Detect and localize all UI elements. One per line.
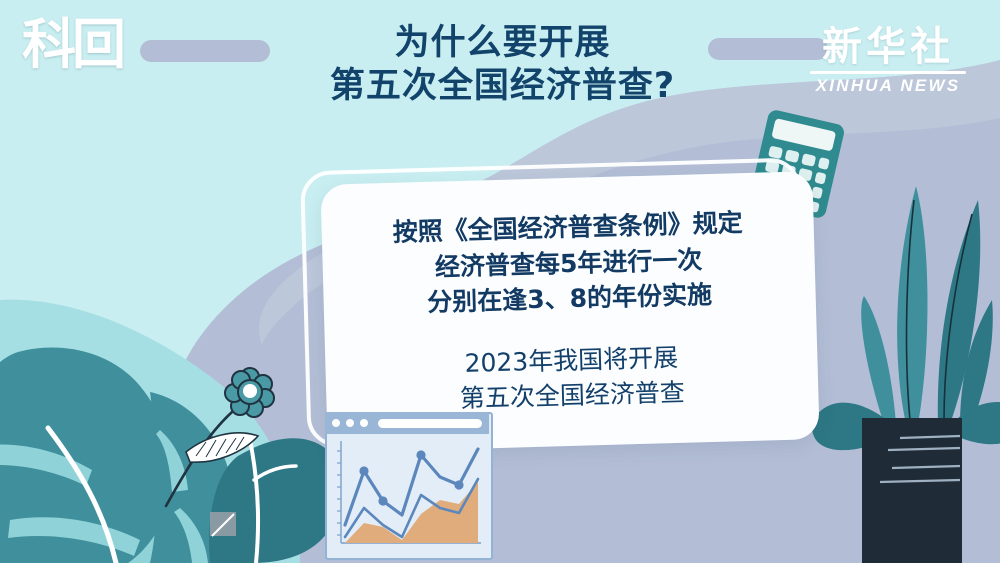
card-content: 按照《全国经济普查条例》规定 经济普查每5年进行一次 分别在逢3、8的年份实施 … <box>320 171 819 453</box>
title-line-2: 第五次全国经济普查? <box>230 65 775 108</box>
browser-dot-2 <box>346 419 354 427</box>
browser-dot-3 <box>360 419 368 427</box>
infographic-canvas: 科回 为什么要开展 第五次全国经济普查? 新华社 XINHUA NEWS <box>0 0 1000 563</box>
xinhua-logo-rule <box>810 71 966 74</box>
chart-plot <box>331 439 483 552</box>
xinhua-logo-english: XINHUA NEWS <box>808 76 968 96</box>
card-paragraph-spacer <box>570 317 571 343</box>
card-paragraph1-line3: 分别在逢3、8的年份实施 <box>427 277 713 320</box>
card-surface: 按照《全国经济普查条例》规定 经济普查每5年进行一次 分别在逢3、8的年份实施 … <box>320 171 819 453</box>
browser-titlebar <box>325 412 489 434</box>
page-title: 为什么要开展 第五次全国经济普查? <box>230 22 775 107</box>
browser-address-bar <box>378 419 482 428</box>
browser-window-mockup <box>325 412 493 560</box>
xinhua-logo-chinese: 新华社 <box>808 26 968 68</box>
xinhua-news-logo: 新华社 XINHUA NEWS <box>808 26 968 88</box>
title-line-1: 为什么要开展 <box>230 22 775 65</box>
kehui-logo: 科回 <box>22 18 122 100</box>
card-paragraph2-line1: 2023年我国将开展 <box>464 340 679 381</box>
card-paragraph2-line2: 第五次全国经济普查 <box>459 375 685 417</box>
kehui-logo-text: 科回 <box>22 18 122 72</box>
browser-dot-1 <box>332 419 340 427</box>
chart-markers <box>359 450 463 505</box>
